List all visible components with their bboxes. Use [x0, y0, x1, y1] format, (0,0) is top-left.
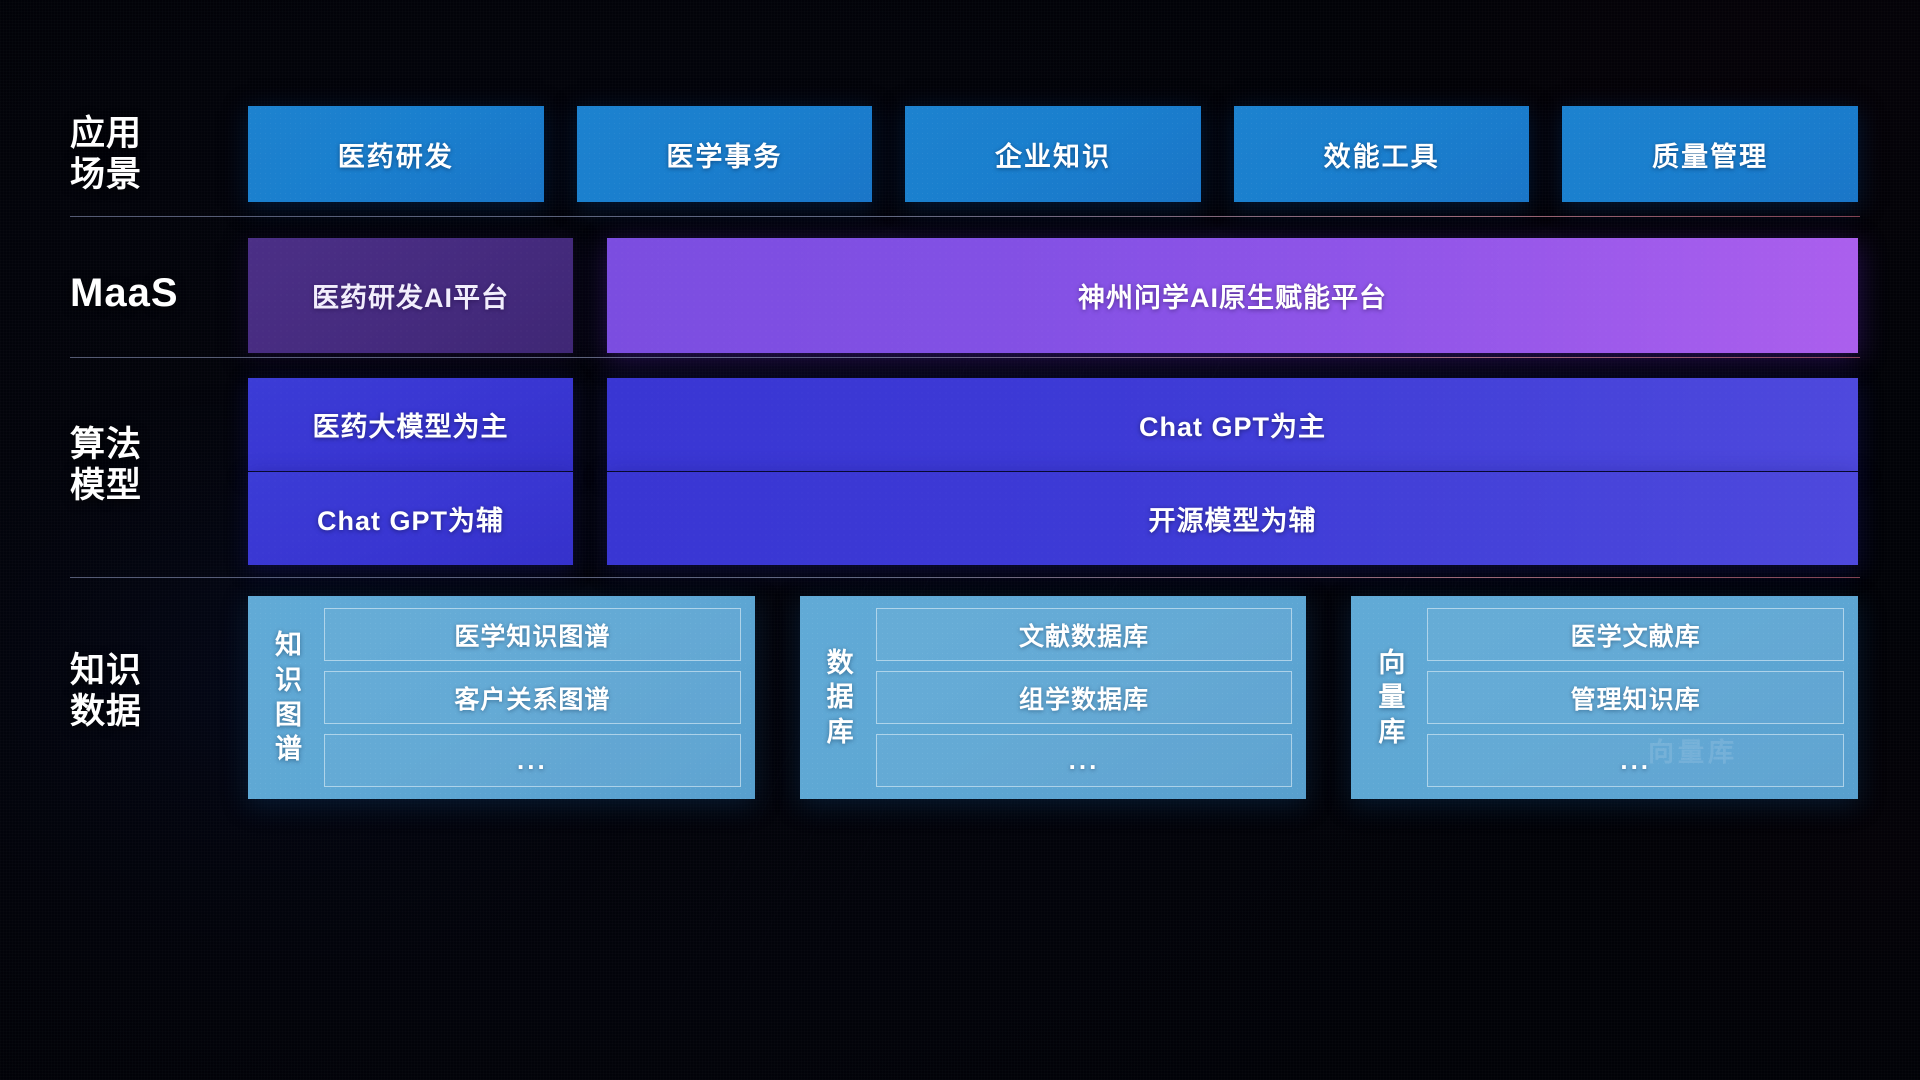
algo-card-opensource-model-secondary[interactable]: 开源模型为辅	[607, 472, 1858, 565]
divider-algorithm-knowledge	[70, 577, 1860, 578]
knowledge-item-medical-knowledge-graph[interactable]: 医学知识图谱	[324, 608, 741, 661]
knowledge-group-items: 医学知识图谱 客户关系图谱 ...	[320, 608, 741, 787]
knowledge-group-title: 数 据 库	[810, 608, 872, 787]
row-label-algorithm-line2: 模型	[70, 465, 200, 506]
knowledge-item-management-knowledge-store[interactable]: 管理知识库	[1427, 671, 1844, 724]
row-label-algorithm-line1: 算法	[70, 424, 200, 465]
app-card-label: 医学事务	[666, 135, 782, 174]
algo-card-label: Chat GPT为辅	[317, 499, 504, 538]
maas-card-label: 医药研发AI平台	[312, 276, 509, 315]
row-label-knowledge-line1: 知识	[70, 650, 200, 691]
knowledge-group-title-char: 谱	[275, 732, 303, 767]
knowledge-group-title-char: 向	[1378, 646, 1406, 681]
knowledge-item-more[interactable]: ...	[324, 734, 741, 787]
app-card-label: 医药研发	[338, 135, 454, 174]
row-label-application-line1: 应用	[70, 113, 200, 154]
algo-card-label: 开源模型为辅	[1149, 499, 1317, 538]
knowledge-item-literature-database[interactable]: 文献数据库	[876, 608, 1293, 661]
row-label-knowledge-line2: 数据	[70, 691, 200, 732]
knowledge-item-customer-relation-graph[interactable]: 客户关系图谱	[324, 671, 741, 724]
knowledge-item-more[interactable]: ...	[876, 734, 1293, 787]
knowledge-item-omics-database[interactable]: 组学数据库	[876, 671, 1293, 724]
app-card-label: 效能工具	[1324, 135, 1440, 174]
knowledge-group-track: 知 识 图 谱 医学知识图谱 客户关系图谱 ... 数 据 库 文献数据库 组学…	[248, 596, 1858, 799]
knowledge-group-items: 文献数据库 组学数据库 ...	[872, 608, 1293, 787]
knowledge-group-vector-store[interactable]: 向 量 库 医学文献库 管理知识库 ... 向量库	[1351, 596, 1858, 799]
knowledge-group-items: 医学文献库 管理知识库 ...	[1423, 608, 1844, 787]
row-label-knowledge: 知识 数据	[70, 650, 200, 733]
row-label-application-line2: 场景	[70, 154, 200, 195]
knowledge-group-title-char: 识	[275, 663, 303, 698]
knowledge-group-title-char: 量	[1378, 680, 1406, 715]
maas-card-shenzhou-wenxue-platform[interactable]: 神州问学AI原生赋能平台	[607, 238, 1858, 353]
knowledge-group-title-char: 库	[1378, 715, 1406, 750]
knowledge-group-title-char: 库	[827, 715, 855, 750]
knowledge-group-title-char: 据	[827, 680, 855, 715]
app-card-medical-affairs[interactable]: 医学事务	[577, 106, 873, 202]
app-card-quality-management[interactable]: 质量管理	[1562, 106, 1858, 202]
row-label-algorithm: 算法 模型	[70, 424, 200, 507]
app-card-enterprise-knowledge[interactable]: 企业知识	[905, 106, 1201, 202]
knowledge-group-title-char: 知	[275, 628, 303, 663]
algo-card-pharma-large-model-primary[interactable]: 医药大模型为主	[248, 378, 573, 471]
maas-card-track: 医药研发AI平台 神州问学AI原生赋能平台	[248, 238, 1858, 353]
algo-card-label: Chat GPT为主	[1139, 405, 1326, 444]
knowledge-item-medical-literature-store[interactable]: 医学文献库	[1427, 608, 1844, 661]
knowledge-group-title-char: 数	[827, 646, 855, 681]
algorithm-row-primary: 医药大模型为主 Chat GPT为主	[248, 378, 1858, 471]
app-card-label: 质量管理	[1652, 135, 1768, 174]
row-label-application: 应用 场景	[70, 113, 200, 196]
algorithm-row-secondary: Chat GPT为辅 开源模型为辅	[248, 472, 1858, 565]
row-label-maas: MaaS	[70, 270, 200, 317]
divider-application-maas	[70, 216, 1860, 217]
knowledge-group-knowledge-graph[interactable]: 知 识 图 谱 医学知识图谱 客户关系图谱 ...	[248, 596, 755, 799]
application-card-track: 医药研发 医学事务 企业知识 效能工具 质量管理	[248, 106, 1858, 202]
maas-card-label: 神州问学AI原生赋能平台	[1078, 276, 1387, 315]
knowledge-group-title: 向 量 库	[1361, 608, 1423, 787]
knowledge-group-title-char: 图	[275, 698, 303, 733]
knowledge-group-database[interactable]: 数 据 库 文献数据库 组学数据库 ...	[800, 596, 1307, 799]
app-card-medicine-rd[interactable]: 医药研发	[248, 106, 544, 202]
algo-card-label: 医药大模型为主	[313, 405, 509, 444]
knowledge-item-more[interactable]: ...	[1427, 734, 1844, 787]
row-label-maas-text: MaaS	[70, 270, 200, 317]
divider-maas-algorithm	[70, 357, 1860, 358]
app-card-efficiency-tools[interactable]: 效能工具	[1234, 106, 1530, 202]
knowledge-group-title: 知 识 图 谱	[258, 608, 320, 787]
algo-card-chatgpt-secondary[interactable]: Chat GPT为辅	[248, 472, 573, 565]
maas-card-pharma-ai-platform[interactable]: 医药研发AI平台	[248, 238, 573, 353]
app-card-label: 企业知识	[995, 135, 1111, 174]
architecture-diagram: 应用 场景 医药研发 医学事务 企业知识 效能工具 质量管理 MaaS 医药研发…	[0, 0, 1920, 1080]
algo-card-chatgpt-primary[interactable]: Chat GPT为主	[607, 378, 1858, 471]
